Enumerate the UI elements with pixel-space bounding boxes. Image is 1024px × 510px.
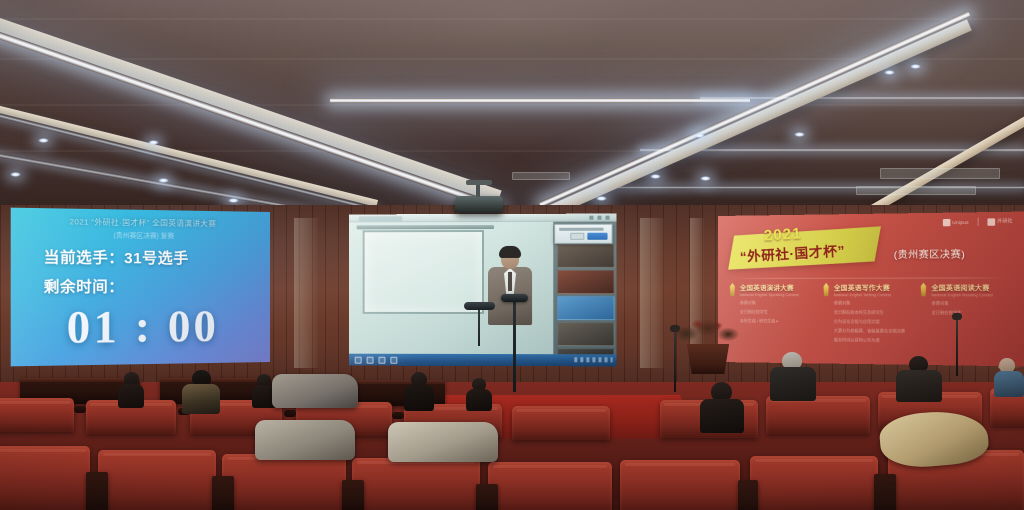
audience-member (994, 358, 1024, 394)
ceiling-spotlight (158, 178, 169, 183)
auditorium-scene: 2021 “外研社·国才杯” 全国英语演讲大赛 (贵州赛区决赛) 复赛 当前选手… (0, 0, 1024, 510)
desk[interactable] (476, 484, 498, 510)
ceiling-air-vent (512, 172, 570, 180)
ceiling-air-vent (880, 168, 1000, 179)
dialog-message (559, 228, 603, 231)
light-stand (956, 318, 958, 376)
ceiling-spotlight (794, 132, 805, 137)
audience-member (404, 372, 434, 408)
auditorium-seat[interactable] (352, 458, 480, 510)
floor-microphone-stand (513, 300, 516, 392)
seat-armrest (284, 410, 296, 417)
auditorium-seat[interactable] (766, 396, 870, 434)
dialog-primary-button[interactable] (587, 233, 607, 240)
ceiling-spotlight (596, 196, 607, 201)
ceiling-spotlight (650, 174, 661, 179)
ceiling-spotlight (910, 64, 921, 69)
audience-member (896, 356, 942, 400)
ceiling-spotlight (228, 198, 239, 203)
draped-coat (255, 420, 355, 460)
auditorium-seat[interactable] (488, 462, 612, 510)
draped-coat (272, 374, 358, 408)
ceiling-spotlight (884, 70, 895, 75)
person-body (896, 370, 942, 402)
person-body (182, 384, 220, 414)
person-body (700, 399, 744, 433)
audience-member (700, 382, 744, 430)
ceiling-band (0, 104, 1024, 106)
draped-coat (388, 422, 498, 462)
auditorium-seat[interactable] (0, 398, 74, 432)
banner-region: (贵州赛区决赛) (894, 246, 965, 261)
audience-member (118, 372, 144, 406)
ceiling-spotlight (38, 138, 49, 143)
ceiling-spotlight (694, 133, 705, 138)
auditorium-seat[interactable] (750, 456, 878, 510)
seat-armrest (392, 412, 404, 419)
desk[interactable] (738, 480, 758, 510)
auditorium-seat[interactable] (0, 446, 90, 510)
wall-pilaster (640, 218, 664, 368)
person-body (994, 371, 1024, 397)
dialog-secondary-button[interactable] (570, 233, 584, 240)
right-projection-screen[interactable]: Unipus 外研社 2021 “外研社·国才杯” (贵州赛区决赛) 全国英语演… (718, 212, 1024, 367)
person-body (466, 389, 492, 411)
modal-dialog[interactable] (554, 224, 612, 244)
ceiling-led-strip (330, 98, 750, 103)
audience-member (182, 370, 220, 410)
seat-armrest (74, 406, 86, 413)
potted-plant (672, 312, 744, 374)
plant-pot (684, 344, 732, 374)
wall-pilaster (294, 218, 318, 368)
plant-foliage (672, 312, 744, 348)
ceiling-spotlight (148, 140, 159, 145)
ceiling-band (0, 18, 1024, 20)
ceiling (0, 0, 1024, 215)
auditorium-seat[interactable] (620, 460, 740, 510)
ceiling-spotlight (10, 172, 21, 177)
person-body (118, 384, 144, 408)
desk[interactable] (212, 476, 234, 510)
person-body (404, 385, 434, 411)
auditorium-seat[interactable] (512, 406, 610, 440)
ceiling-air-vent (856, 186, 976, 195)
ceiling-projector (455, 196, 503, 213)
person-body (770, 367, 816, 401)
ceiling-spotlight (700, 176, 711, 181)
auditorium-seat[interactable] (98, 450, 216, 510)
audience-member (466, 378, 492, 408)
left-projection-screen[interactable]: 2021 “外研社·国才杯” 全国英语演讲大赛 (贵州赛区决赛) 复赛 当前选手… (11, 208, 270, 367)
center-projection-screen[interactable] (349, 214, 617, 367)
desk[interactable] (342, 480, 364, 510)
desk[interactable] (874, 474, 896, 510)
auditorium-seat[interactable] (222, 454, 346, 510)
audience-member (770, 352, 816, 398)
screen-glare (11, 208, 270, 367)
desk[interactable] (86, 472, 108, 510)
